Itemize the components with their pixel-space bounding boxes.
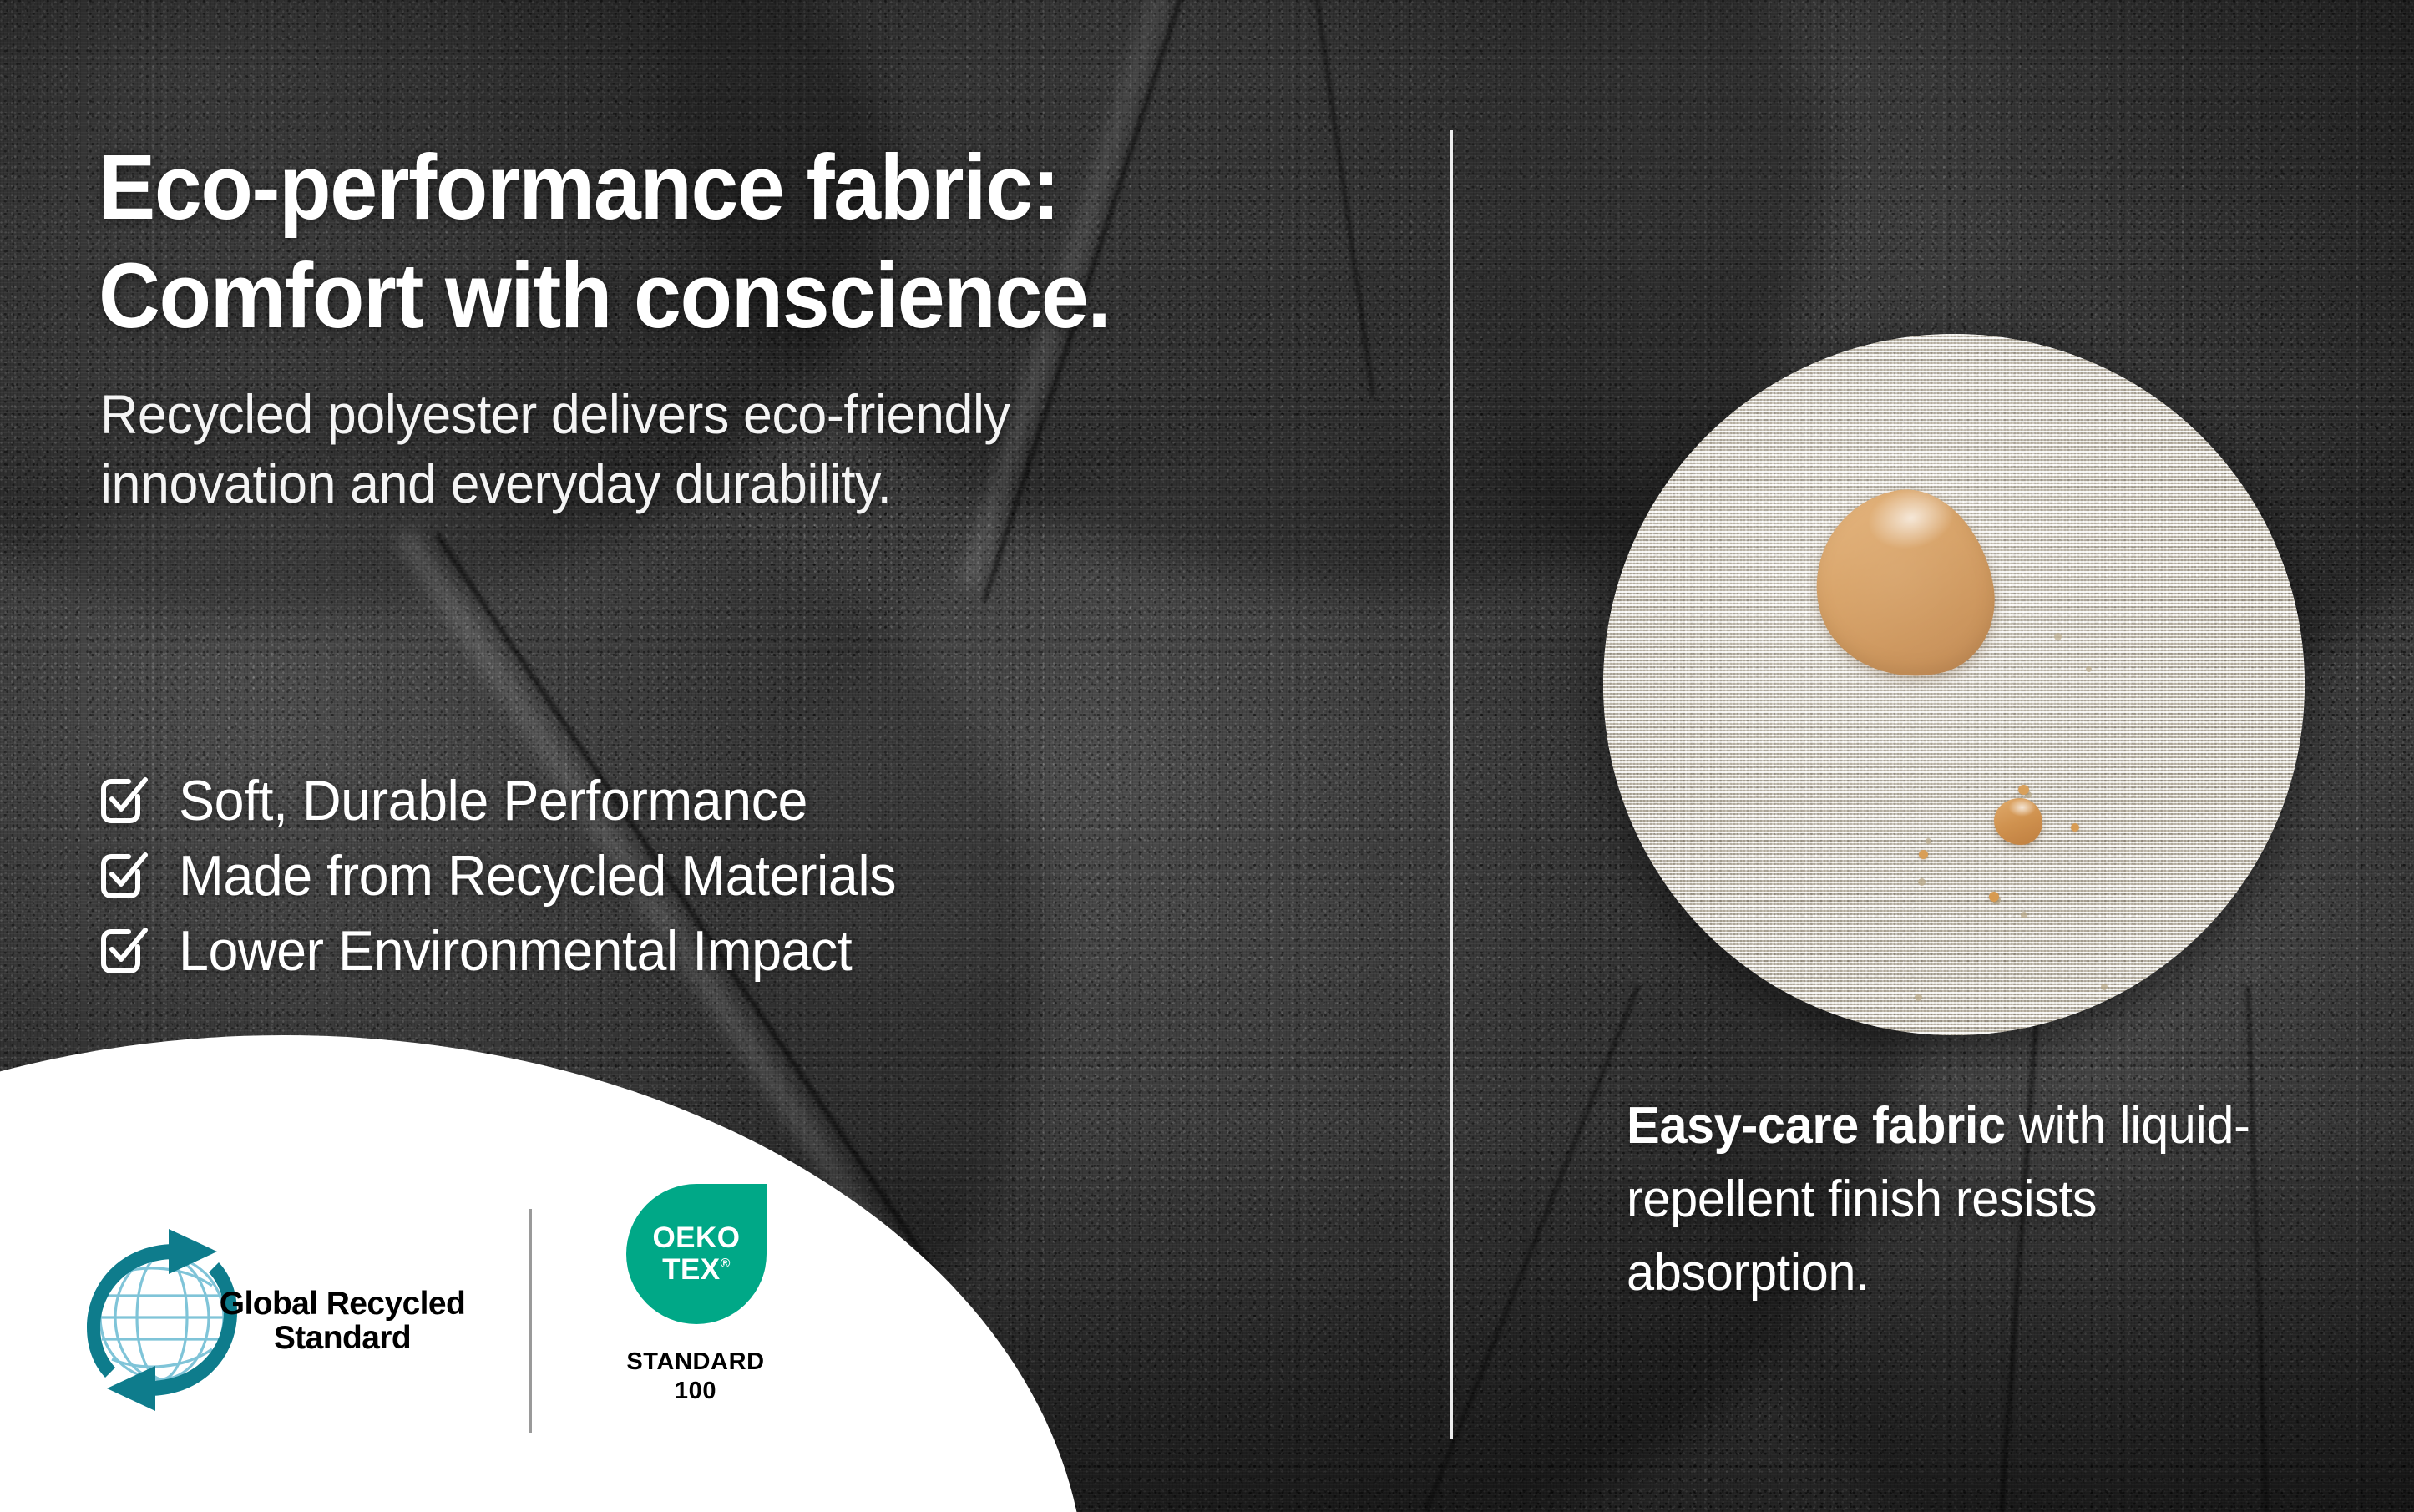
- registered-mark-icon: ®: [721, 1257, 731, 1271]
- list-item-label: Made from Recycled Materials: [179, 847, 896, 904]
- oeko-tex-standard-line2: 100: [675, 1378, 716, 1404]
- logo-divider: [529, 1209, 532, 1433]
- oeko-tex-line1: OEKO: [652, 1223, 740, 1253]
- fabric-swatch-circle: [1603, 334, 2305, 1035]
- page-title: Eco-performance fabric: Comfort with con…: [99, 134, 1357, 351]
- list-item-label: Soft, Durable Performance: [179, 772, 807, 829]
- checkbox-check-icon: [99, 925, 150, 977]
- swatch-caption: Easy-care fabric with liquid-repellent f…: [1627, 1090, 2332, 1310]
- grs-label: Global Recycled Standard: [217, 1287, 468, 1356]
- oeko-tex-line2: TEX: [662, 1255, 721, 1285]
- oeko-tex-brand: OEKO TEX ®: [626, 1184, 767, 1324]
- oeko-tex-line2-wrap: TEX ®: [662, 1255, 731, 1285]
- list-item-label: Lower Environmental Impact: [179, 923, 852, 979]
- oeko-tex-logo: OEKO TEX ® STANDARD 100: [608, 1184, 783, 1468]
- oeko-tex-standard-line1: STANDARD: [626, 1348, 764, 1375]
- oeko-tex-standard-label: STANDARD 100: [608, 1348, 783, 1407]
- caption-bold-text: Easy-care fabric: [1627, 1097, 2006, 1155]
- certification-panel: Global Recycled Standard OEKO TEX ® STAN…: [0, 1035, 1086, 1512]
- list-item: Lower Environmental Impact: [99, 923, 934, 979]
- column-divider: [1450, 130, 1453, 1439]
- grs-label-line1: Global Recycled: [220, 1286, 465, 1322]
- subheadline: Recycled polyester delivers eco-friendly…: [100, 380, 1172, 518]
- grs-label-line2: Standard: [274, 1320, 411, 1356]
- checkbox-check-icon: [99, 850, 150, 902]
- infographic-canvas: Eco-performance fabric: Comfort with con…: [0, 0, 2414, 1512]
- list-item: Soft, Durable Performance: [99, 772, 934, 829]
- global-recycled-standard-logo: Global Recycled Standard: [68, 1224, 461, 1416]
- checkbox-check-icon: [99, 775, 150, 827]
- oeko-tex-droplet-icon: OEKO TEX ®: [626, 1184, 767, 1324]
- list-item: Made from Recycled Materials: [99, 847, 934, 904]
- feature-checklist: Soft, Durable Performance Made from Recy…: [99, 772, 934, 979]
- swatch-shading: [1603, 334, 2305, 1035]
